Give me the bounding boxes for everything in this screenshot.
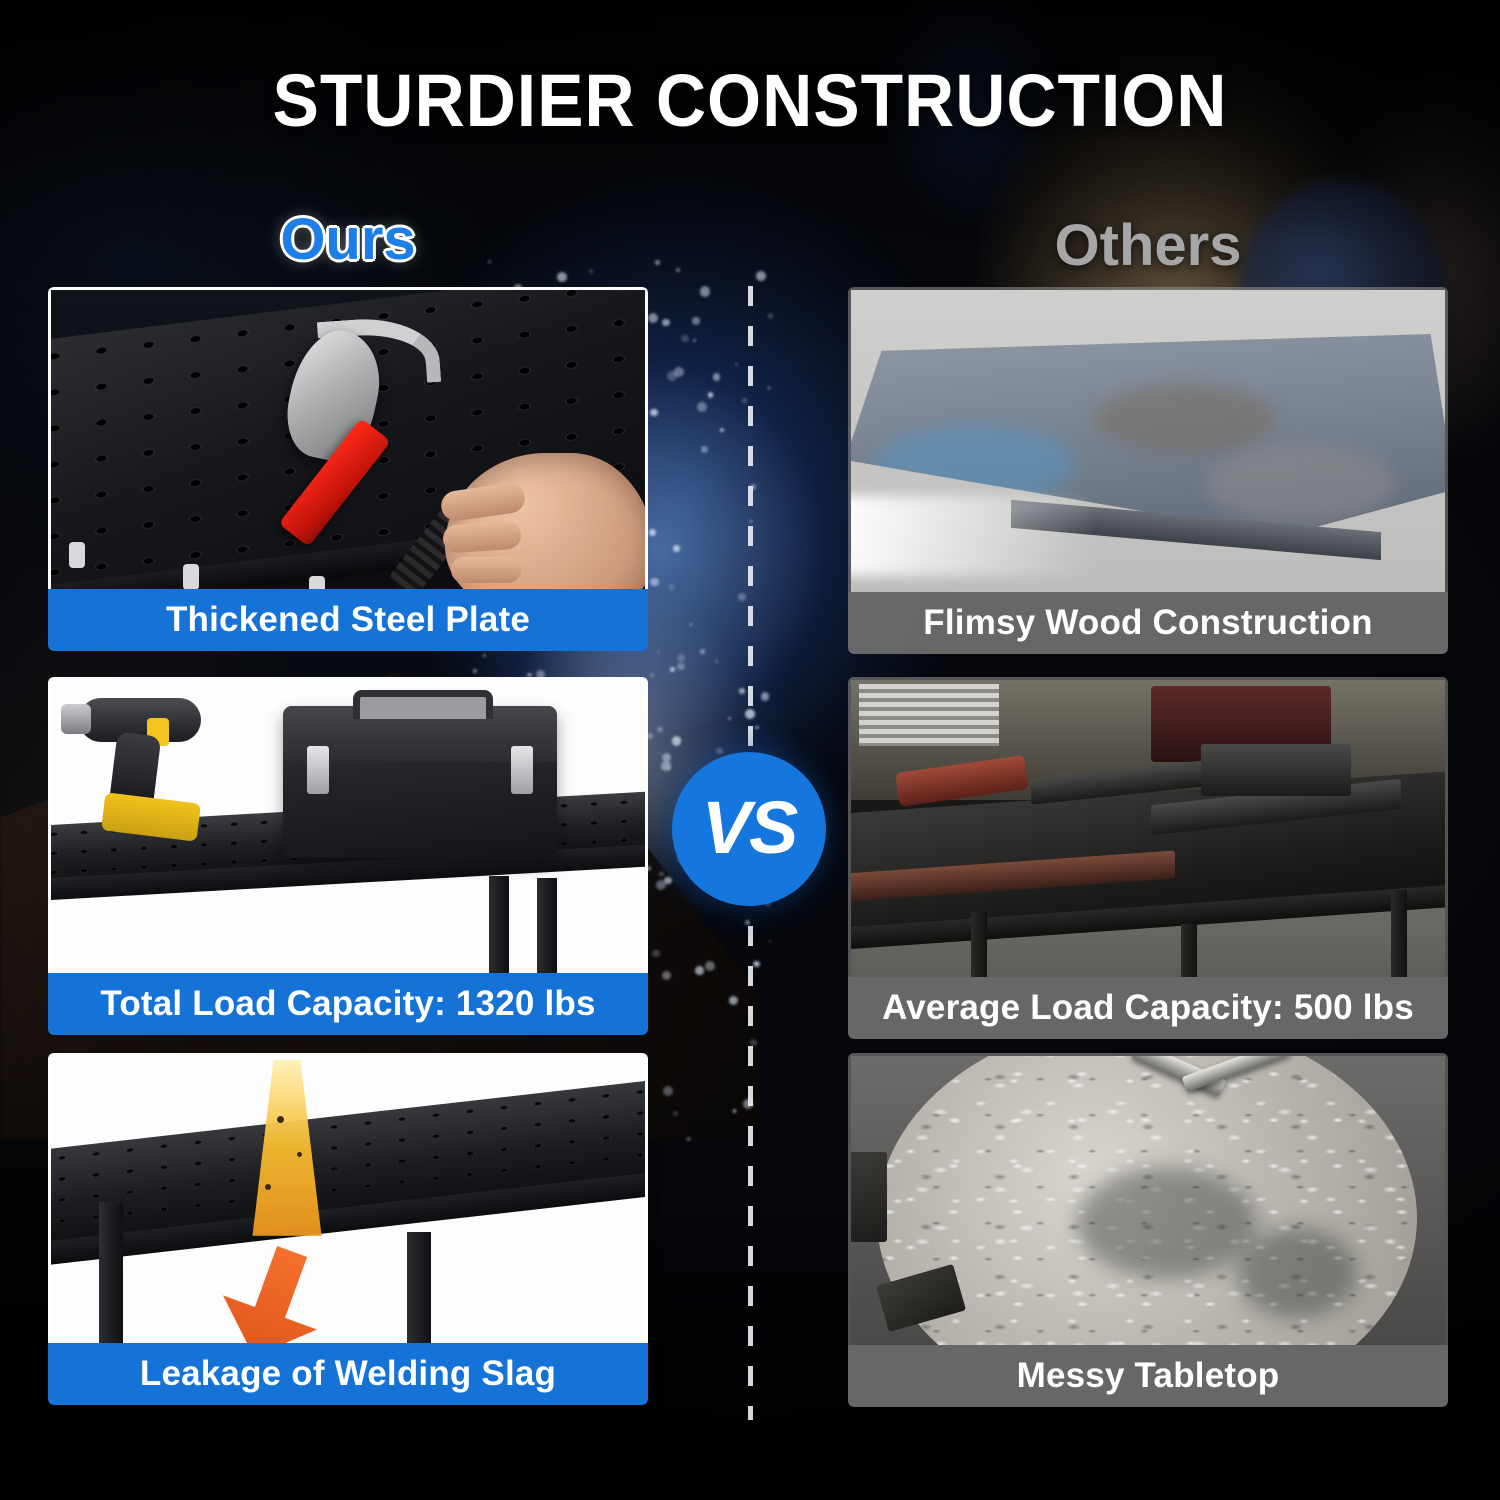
others-caption-3: Messy Tabletop xyxy=(848,1345,1448,1407)
ours-caption-2: Total Load Capacity: 1320 lbs xyxy=(48,973,648,1035)
column-header-ours: Ours xyxy=(48,206,648,273)
others-caption-2: Average Load Capacity: 500 lbs xyxy=(848,977,1448,1039)
others-panel-1[interactable]: Flimsy Wood Construction xyxy=(848,287,1448,654)
comparison-infographic: STURDIER CONSTRUCTION Ours Others xyxy=(0,0,1500,1500)
others-photo-messy-tabletop xyxy=(848,1053,1448,1345)
vs-label: VS xyxy=(702,785,797,870)
ours-photo-thickened-steel-plate xyxy=(48,287,648,589)
vs-badge: VS xyxy=(672,752,826,906)
column-header-others: Others xyxy=(848,212,1448,279)
ours-caption-3: Leakage of Welding Slag xyxy=(48,1343,648,1405)
ours-panel-2[interactable]: Total Load Capacity: 1320 lbs xyxy=(48,677,648,1035)
others-panel-2[interactable]: Average Load Capacity: 500 lbs xyxy=(848,677,1448,1039)
downward-arrow-icon xyxy=(207,1234,339,1343)
ours-photo-slag-leakage xyxy=(48,1053,648,1343)
others-photo-flimsy-wood xyxy=(848,287,1448,592)
others-photo-cluttered-table xyxy=(848,677,1448,977)
ours-photo-load-capacity xyxy=(48,677,648,973)
ours-panel-1[interactable]: Thickened Steel Plate xyxy=(48,287,648,651)
ours-panel-3[interactable]: Leakage of Welding Slag xyxy=(48,1053,648,1405)
page-title: STURDIER CONSTRUCTION xyxy=(45,58,1455,143)
toolbox-icon xyxy=(283,706,557,858)
ours-caption-1: Thickened Steel Plate xyxy=(48,589,648,651)
others-panel-3[interactable]: Messy Tabletop xyxy=(848,1053,1448,1407)
others-caption-1: Flimsy Wood Construction xyxy=(848,592,1448,654)
